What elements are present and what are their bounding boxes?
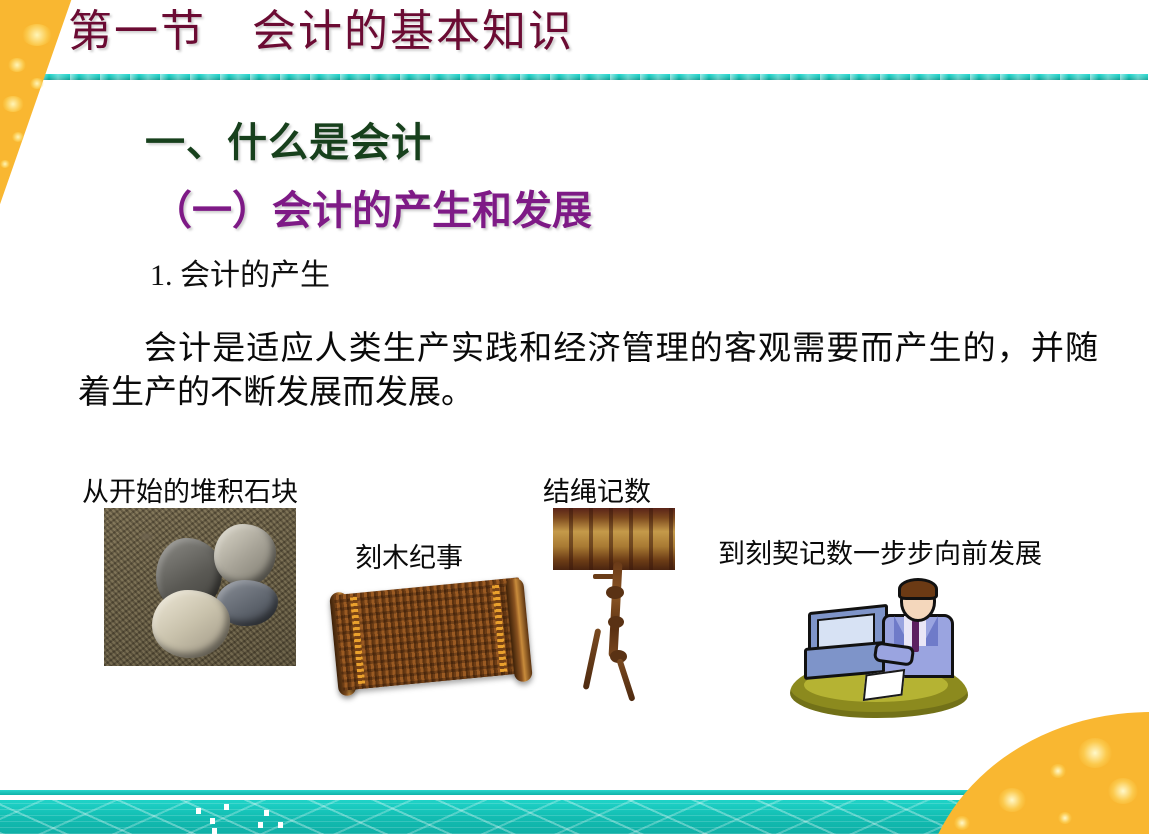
- figure-label-modern-accounting: 到刻契记数一步步向前发展: [718, 532, 1042, 571]
- rope-knot: [606, 586, 624, 599]
- figure-label-knotted-rope: 结绳记数: [543, 470, 651, 509]
- rock-shape: [214, 524, 276, 586]
- title-divider-rule: [40, 74, 1148, 80]
- person-hair: [898, 578, 938, 600]
- bubble-icon: [1078, 738, 1112, 768]
- bubble-icon: [1050, 764, 1066, 778]
- heading-level-1: 一、什么是会计: [145, 110, 432, 168]
- rope-knot: [608, 616, 624, 628]
- sparkle-dot: [258, 822, 263, 828]
- bubble-icon: [8, 58, 26, 72]
- bamboo-scroll-photo: [334, 578, 530, 700]
- sparkle-dot: [210, 818, 215, 824]
- stones-photo: [104, 508, 296, 666]
- sparkle-dot: [212, 828, 217, 834]
- rock-shape: [152, 590, 230, 658]
- bubble-icon: [998, 788, 1026, 812]
- bottom-right-corner-decoration: [930, 690, 1149, 834]
- wooden-bar: [553, 508, 675, 570]
- figure-label-wood-carving: 刻木纪事: [355, 536, 463, 575]
- rope-branch: [583, 628, 602, 690]
- bubble-icon: [22, 24, 52, 46]
- knotted-rope-photo: [553, 508, 675, 708]
- presentation-slide: 第一节 会计的基本知识 一、什么是会计 （一）会计的产生和发展 1. 会计的产生…: [0, 0, 1149, 834]
- sparkle-dot: [278, 822, 283, 828]
- slide-title: 第一节 会计的基本知识: [68, 6, 574, 59]
- bubble-icon: [1108, 778, 1138, 804]
- heading-level-2: （一）会计的产生和发展: [152, 178, 592, 236]
- sparkle-dot: [264, 810, 269, 816]
- sparkle-dot: [224, 804, 229, 810]
- body-paragraph: 会计是适应人类生产实践和经济管理的客观需要而产生的，并随着生产的不断发展而发展。: [78, 328, 1098, 415]
- bubble-icon: [954, 816, 970, 830]
- heading-level-3: 1. 会计的产生: [150, 250, 330, 294]
- bubble-icon: [1058, 812, 1072, 824]
- bubble-icon: [12, 132, 24, 142]
- sparkle-dot: [196, 808, 201, 814]
- bubble-icon: [2, 96, 24, 112]
- rope-branch: [616, 658, 635, 702]
- figure-label-stones: 从开始的堆积石块: [82, 470, 298, 509]
- necktie-shape: [912, 620, 919, 652]
- bubble-icon: [0, 160, 10, 168]
- bubble-icon: [30, 78, 44, 89]
